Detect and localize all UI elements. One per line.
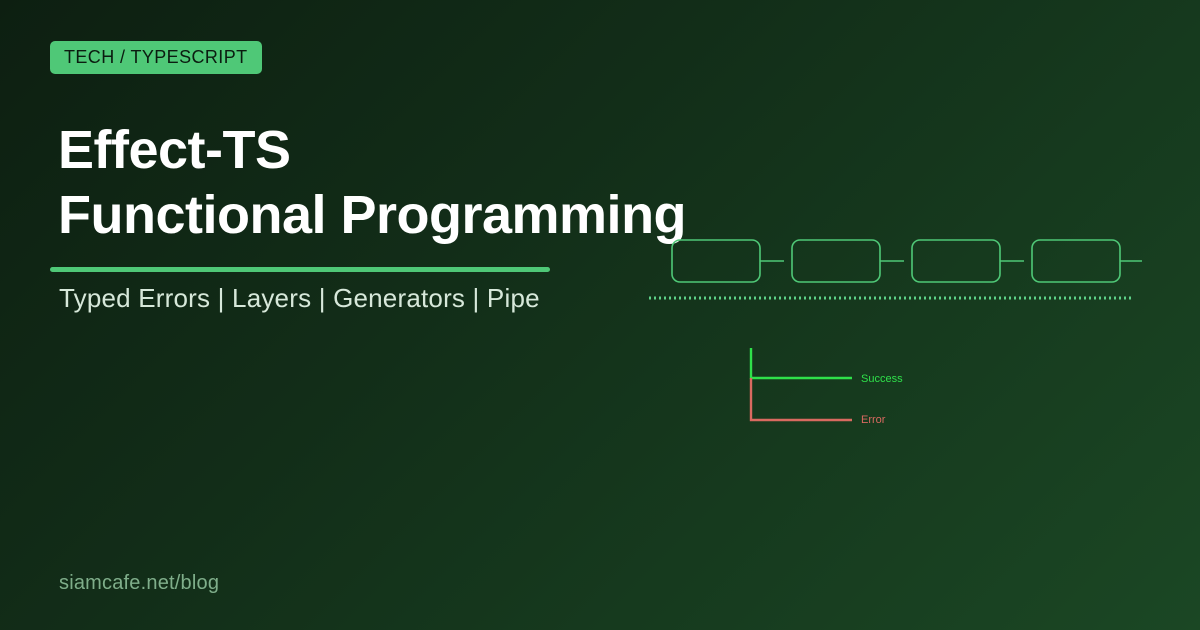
pipeline-box <box>792 240 880 282</box>
pipeline-diagram-icon <box>645 228 1155 313</box>
branch-diagram-icon: Success Error <box>735 340 935 435</box>
title-line-2: Functional Programming <box>58 183 738 248</box>
branch-error-path <box>751 378 852 420</box>
title-line-1: Effect-TS <box>58 118 738 183</box>
subtitle: Typed Errors | Layers | Generators | Pip… <box>59 283 540 314</box>
og-card: TECH / TYPESCRIPT Effect-TS Functional P… <box>0 0 1200 630</box>
category-badge: TECH / TYPESCRIPT <box>50 41 262 74</box>
pipeline-box <box>1032 240 1120 282</box>
category-badge-label: TECH / TYPESCRIPT <box>64 47 248 68</box>
branch-error-label: Error <box>861 414 886 426</box>
branch-success-path <box>751 348 852 378</box>
page-title: Effect-TS Functional Programming <box>58 118 738 248</box>
pipeline-box <box>672 240 760 282</box>
pipeline-box <box>912 240 1000 282</box>
accent-rule <box>50 267 550 272</box>
branch-success-label: Success <box>861 373 903 385</box>
footer-url: siamcafe.net/blog <box>59 572 219 595</box>
